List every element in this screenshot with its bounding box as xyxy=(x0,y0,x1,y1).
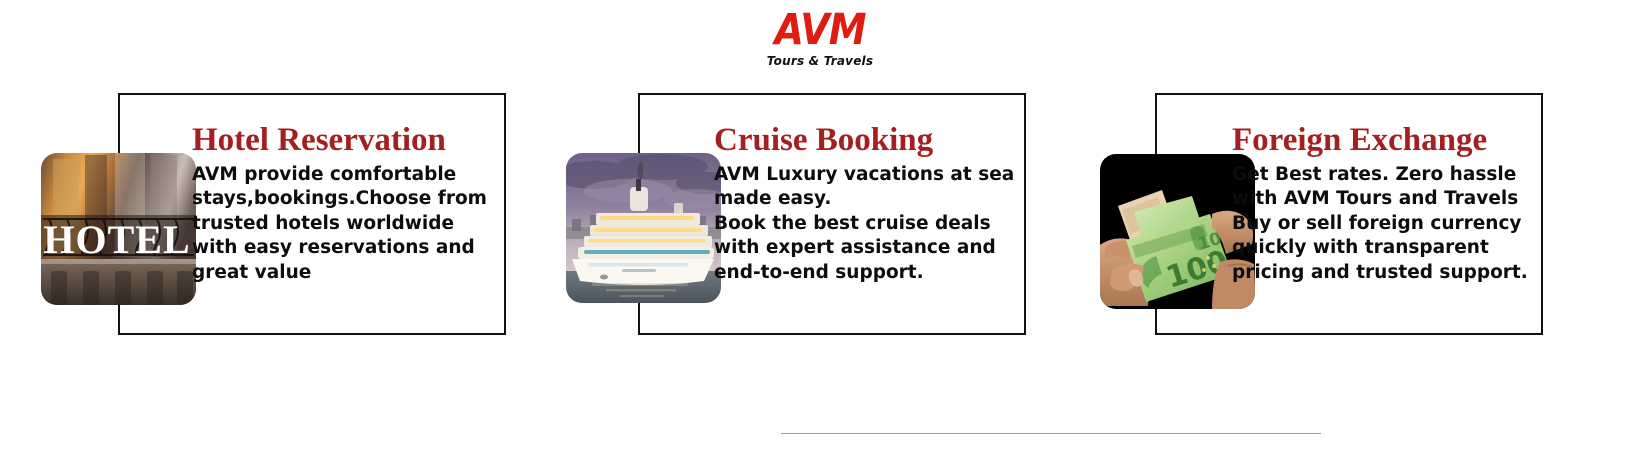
service-card-cruise[interactable]: Cruise Booking AVM Luxury vacations at s… xyxy=(638,93,1026,335)
hotel-sign-text: HOTEL xyxy=(43,217,190,262)
bottom-divider xyxy=(781,433,1321,434)
brand-logo[interactable]: AVM Tours & Travels xyxy=(0,8,1640,67)
hotel-card-body: AVM provide comfortable stays,bookings.C… xyxy=(192,163,504,286)
hotel-card-title: Hotel Reservation xyxy=(192,123,504,159)
forex-card-text: Foreign Exchange Get Best rates. Zero ha… xyxy=(1232,123,1547,286)
brand-logo-mark: AVM xyxy=(0,8,1640,51)
hotel-thumbnail: HOTEL xyxy=(41,153,196,305)
cruise-card-title: Cruise Booking xyxy=(714,123,1029,159)
service-card-forex[interactable]: 50 100 100 xyxy=(1155,93,1543,335)
forex-card-title: Foreign Exchange xyxy=(1232,123,1547,159)
cruise-ship-icon xyxy=(566,153,721,303)
cruise-thumbnail xyxy=(566,153,721,303)
service-card-hotel[interactable]: HOTEL Hotel Reservation AVM provide comf… xyxy=(118,93,506,335)
cruise-card-body: AVM Luxury vacations at sea made easy. B… xyxy=(714,163,1029,286)
cruise-card-text: Cruise Booking AVM Luxury vacations at s… xyxy=(714,123,1029,286)
brand-logo-tagline: Tours & Travels xyxy=(0,55,1640,67)
hotel-card-text: Hotel Reservation AVM provide comfortabl… xyxy=(192,123,504,286)
hotel-facade-sign-icon: HOTEL xyxy=(41,153,196,305)
forex-card-body: Get Best rates. Zero hassle with AVM Tou… xyxy=(1232,163,1547,286)
